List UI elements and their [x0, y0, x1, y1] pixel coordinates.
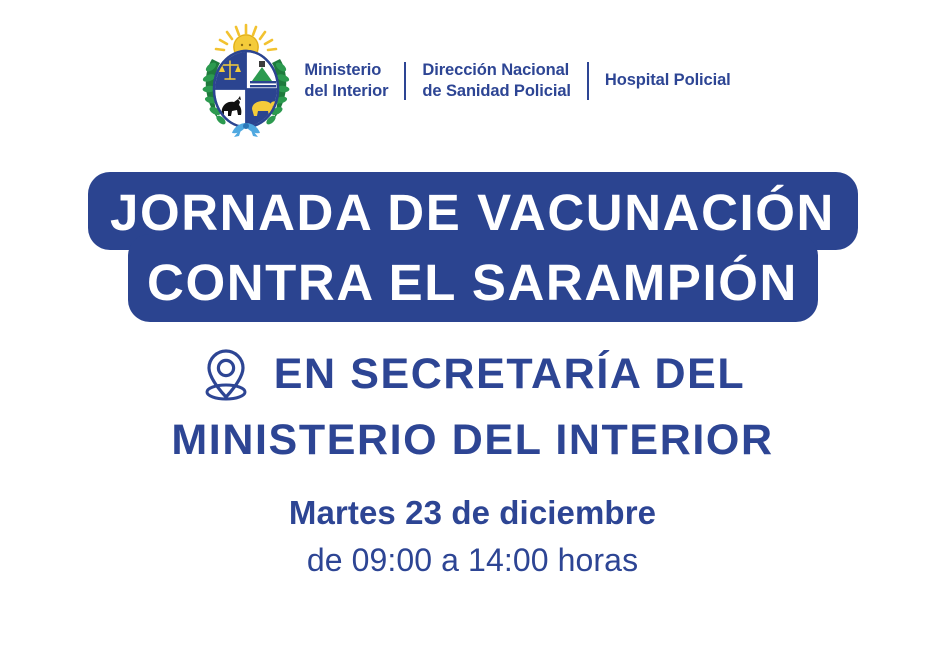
schedule-hours: de 09:00 a 14:00 horas: [0, 540, 945, 581]
banner-title-line2: CONTRA EL SARAMPIÓN: [147, 248, 798, 318]
location-heading-row: EN SECRETARÍA DEL: [0, 344, 945, 406]
brand-ministerio-del-interior: Ministerio del Interior: [304, 60, 404, 102]
location-line1: EN SECRETARÍA DEL: [274, 352, 746, 397]
brand-line: del Interior: [304, 82, 388, 100]
brand-text-group: Ministerio del Interior Dirección Nacion…: [304, 60, 746, 102]
banner-title-text: JORNADA DE VACUNACIÓN CONTRA EL SARAMPIÓ…: [0, 172, 945, 324]
location-line2: MINISTERIO DEL INTERIOR: [0, 418, 945, 463]
location-pin-icon: [200, 347, 252, 403]
campaign-title-banner: JORNADA DE VACUNACIÓN CONTRA EL SARAMPIÓ…: [0, 172, 945, 324]
schedule-date: Martes 23 de diciembre: [0, 492, 945, 534]
brand-direccion-nacional-de-sanidad-policial: Dirección Nacional de Sanidad Policial: [406, 60, 586, 102]
uruguay-coat-of-arms-emblem: [198, 23, 294, 139]
vaccination-campaign-poster: Ministerio del Interior Dirección Nacion…: [0, 0, 945, 668]
header-logo-lockup: Ministerio del Interior Dirección Nacion…: [0, 22, 945, 140]
banner-title-line1: JORNADA DE VACUNACIÓN: [110, 178, 835, 248]
brand-hospital-policial: Hospital Policial: [589, 70, 747, 91]
schedule-block: Martes 23 de diciembre de 09:00 a 14:00 …: [0, 492, 945, 581]
brand-line: Dirección Nacional: [422, 61, 569, 79]
brand-line: Ministerio: [304, 61, 381, 79]
brand-line: de Sanidad Policial: [422, 82, 570, 100]
brand-line: Hospital Policial: [605, 71, 731, 89]
location-heading: EN SECRETARÍA DEL MINISTERIO DEL INTERIO…: [0, 344, 945, 463]
